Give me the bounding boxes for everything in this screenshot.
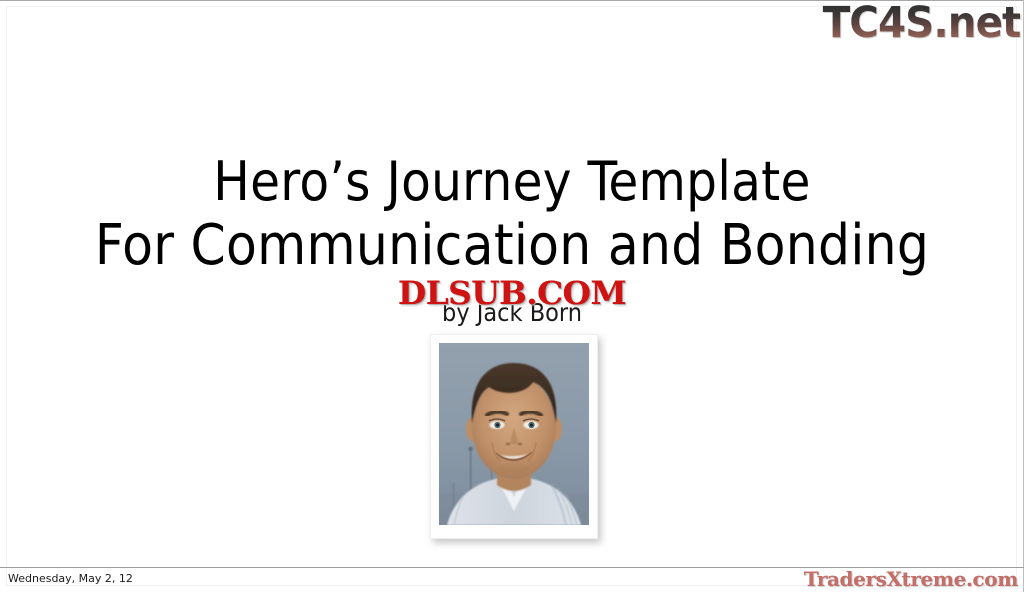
tc4s-watermark: TC4S.net: [822, 2, 1020, 45]
title-line-2: For Communication and Bonding: [0, 214, 1024, 278]
footer-date: Wednesday, May 2, 12: [8, 571, 133, 586]
title-line-1: Hero’s Journey Template: [0, 150, 1024, 214]
author-photo: [439, 343, 589, 525]
presentation-slide: TC4S.net TC4S.net Hero’s Journey Templat…: [0, 0, 1024, 592]
author-portrait-image: [439, 343, 589, 525]
slide-title: Hero’s Journey Template For Communicatio…: [0, 150, 1024, 278]
tradersxtreme-watermark: TradersXtreme.com: [804, 568, 1018, 590]
author-photo-frame: [430, 334, 598, 539]
dlsub-watermark: DLSUB.COM: [359, 277, 665, 309]
